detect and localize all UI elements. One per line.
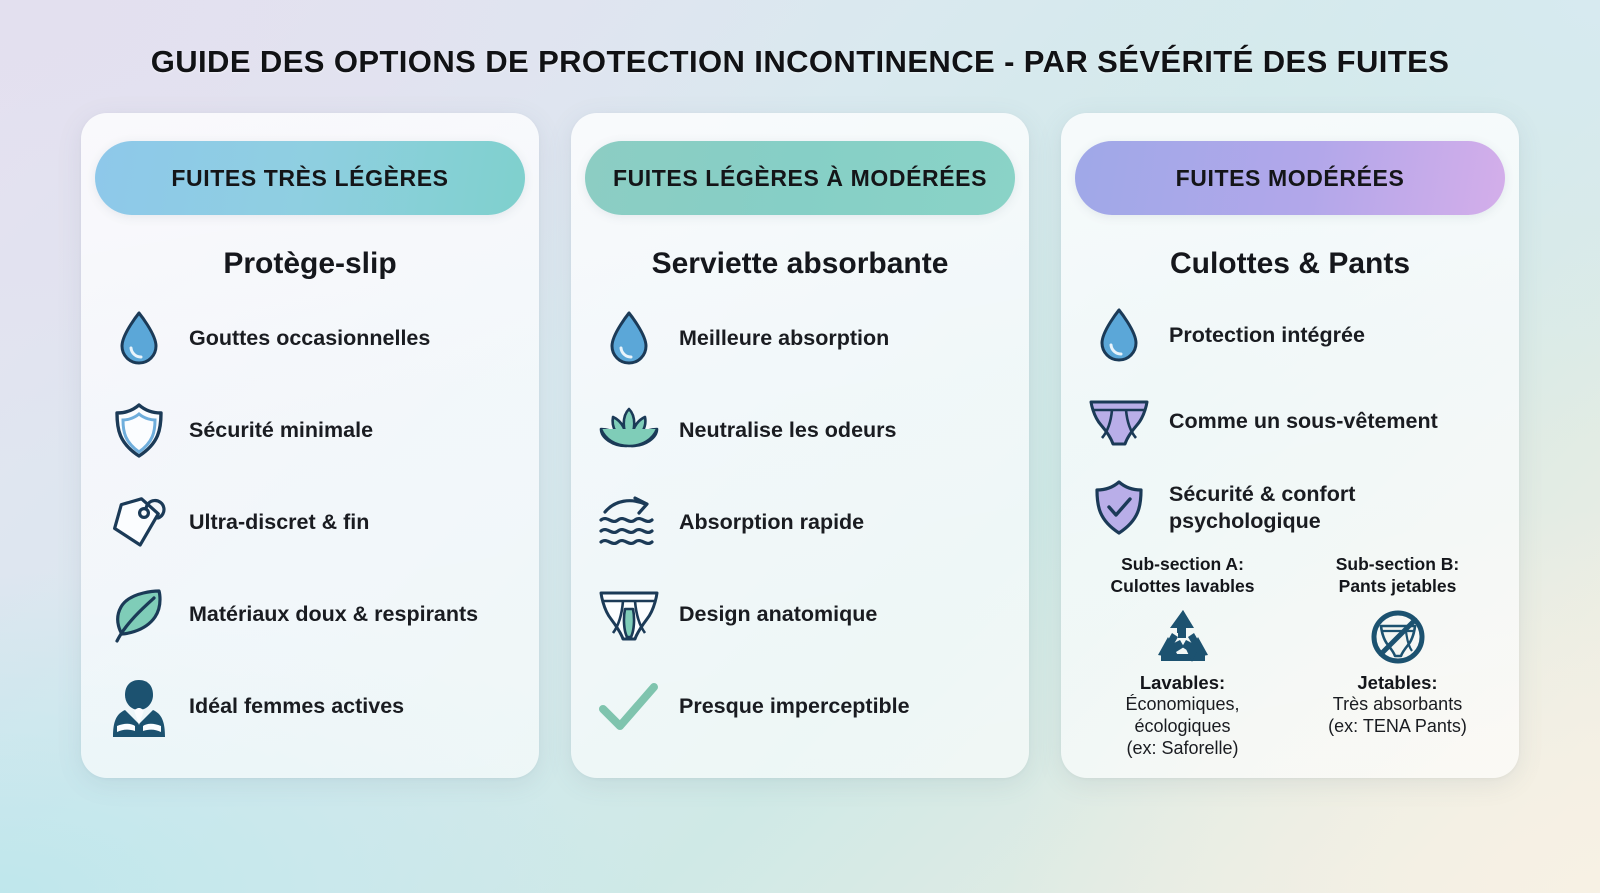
feature-label: Protection intégrée (1169, 322, 1365, 349)
feature-item: Sécurité & confort psychologique (1087, 465, 1497, 551)
shield-icon (107, 399, 171, 463)
lotus-icon (597, 399, 661, 463)
product-name-moderate: Culottes & Pants (1061, 247, 1519, 281)
severity-header-very-light: FUITES TRÈS LÉGÈRES (95, 141, 525, 215)
shield-check-icon (1087, 476, 1151, 540)
severity-card-moderate: FUITES MODÉRÉES Culottes & Pants Protect… (1061, 113, 1519, 778)
product-name-light-moderate: Serviette absorbante (571, 247, 1029, 281)
feature-label: Gouttes occasionnelles (189, 325, 430, 352)
recycle-icon (1075, 605, 1290, 667)
businesswoman-icon (107, 675, 171, 739)
subsection-a: Sub-section A: Culottes lavables La (1075, 553, 1290, 760)
feature-label: Presque imperceptible (679, 693, 910, 720)
severity-header-light-moderate: FUITES LÉGÈRES À MODÉRÉES (585, 141, 1015, 215)
feature-label: Neutralise les odeurs (679, 417, 896, 444)
severity-card-very-light: FUITES TRÈS LÉGÈRES Protège-slip Gouttes… (81, 113, 539, 778)
subsection-title: Sub-section B: Pants jetables (1290, 553, 1505, 597)
feature-item: Gouttes occasionnelles (107, 293, 517, 385)
feature-label: Sécurité minimale (189, 417, 373, 444)
feature-item: Absorption rapide (597, 477, 1007, 569)
tag-icon (107, 491, 171, 555)
feature-list-light-moderate: Meilleure absorption Neutralise les odeu… (571, 287, 1029, 753)
subsection-desc: Très absorbants (ex: TENA Pants) (1290, 694, 1505, 738)
severity-card-light-moderate: FUITES LÉGÈRES À MODÉRÉES Serviette abso… (571, 113, 1029, 778)
feature-item: Meilleure absorption (597, 293, 1007, 385)
product-name-very-light: Protège-slip (81, 247, 539, 281)
feature-label: Comme un sous-vêtement (1169, 408, 1438, 435)
feature-item: Matériaux doux & respirants (107, 569, 517, 661)
feature-label: Meilleure absorption (679, 325, 889, 352)
subsection-b: Sub-section B: Pants jetables Jetables: … (1290, 553, 1505, 760)
feature-list-very-light: Gouttes occasionnelles Sécurité minimale… (81, 287, 539, 753)
feature-label: Ultra-discret & fin (189, 509, 369, 536)
no-reusable-briefs-icon (1290, 605, 1505, 667)
feature-label: Matériaux doux & respirants (189, 601, 478, 628)
subsection-lead: Jetables: (1290, 671, 1505, 694)
feature-item: Sécurité minimale (107, 385, 517, 477)
subsections: Sub-section A: Culottes lavables La (1061, 553, 1519, 760)
feature-label: Design anatomique (679, 601, 877, 628)
leaf-icon (107, 583, 171, 647)
feature-list-moderate: Protection intégrée Comme un sous-vêteme… (1061, 287, 1519, 551)
droplet-icon (107, 307, 171, 371)
severity-header-moderate: FUITES MODÉRÉES (1075, 141, 1505, 215)
briefs-purple-icon (1087, 390, 1151, 454)
subsection-desc: Économiques, écologiques (ex: Saforelle) (1075, 694, 1290, 760)
feature-item: Protection intégrée (1087, 293, 1497, 379)
page-title: GUIDE DES OPTIONS DE PROTECTION INCONTIN… (0, 0, 1600, 80)
feature-item: Design anatomique (597, 569, 1007, 661)
feature-label: Absorption rapide (679, 509, 864, 536)
droplet-icon (1087, 304, 1151, 368)
feature-item: Presque imperceptible (597, 661, 1007, 753)
feature-label: Sécurité & confort psychologique (1169, 481, 1497, 535)
feature-item: Idéal femmes actives (107, 661, 517, 753)
waves-arrow-icon (597, 491, 661, 555)
feature-item: Ultra-discret & fin (107, 477, 517, 569)
feature-item: Neutralise les odeurs (597, 385, 1007, 477)
severity-columns: FUITES TRÈS LÉGÈRES Protège-slip Gouttes… (0, 113, 1600, 778)
feature-item: Comme un sous-vêtement (1087, 379, 1497, 465)
briefs-icon (597, 583, 661, 647)
droplet-icon (597, 307, 661, 371)
feature-label: Idéal femmes actives (189, 693, 404, 720)
subsection-title: Sub-section A: Culottes lavables (1075, 553, 1290, 597)
subsection-lead: Lavables: (1075, 671, 1290, 694)
check-icon (597, 675, 661, 739)
